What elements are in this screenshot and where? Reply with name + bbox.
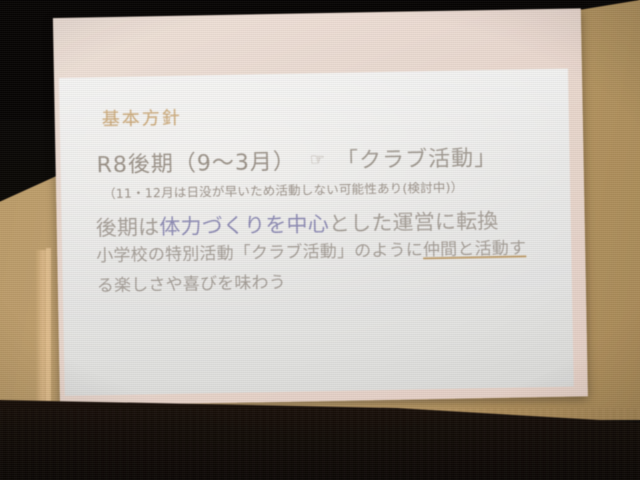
stage-wood-grain xyxy=(0,408,640,480)
main-statement-highlight: 体力づくりを中心 xyxy=(159,212,329,239)
slide-content: 基本方針 R8後期（9〜3月） ☞ 「クラブ活動」 （11・12月は日没が早いた… xyxy=(59,69,574,396)
sub-statement-plain-2: を味わう xyxy=(217,272,286,293)
photograph-of-presentation-screen: 基本方針 R8後期（9〜3月） ☞ 「クラブ活動」 （11・12月は日没が早いた… xyxy=(0,0,640,480)
wall-panel-seam-highlight xyxy=(46,248,51,420)
screen-surface: 基本方針 R8後期（9〜3月） ☞ 「クラブ活動」 （11・12月は日没が早いた… xyxy=(59,69,574,396)
sunset-note: （11・12月は日没が早いため活動しない可能性あり(検討中)） xyxy=(103,175,544,202)
period-line: R8後期（9〜3月） ☞ 「クラブ活動」 xyxy=(96,139,544,179)
sub-statement-underlined-1: 仲間と活動す xyxy=(423,238,527,260)
slide-title: 基本方針 xyxy=(101,97,542,131)
sub-statement-underlined-2: る楽しさや喜び xyxy=(97,274,218,296)
main-statement-suffix: とした運営に転換 xyxy=(329,209,499,236)
main-statement-prefix: 後期は xyxy=(96,215,160,240)
projection-screen: 基本方針 R8後期（9〜3月） ☞ 「クラブ活動」 （11・12月は日没が早いた… xyxy=(53,8,588,406)
club-activity-label: 「クラブ活動」 xyxy=(336,140,498,175)
pointing-hand-icon: ☞ xyxy=(310,150,327,170)
period-text: R8後期（9〜3月） xyxy=(96,144,296,180)
sub-statement-plain-1: 小学校の特別活動「クラブ活動」のように xyxy=(96,240,423,266)
